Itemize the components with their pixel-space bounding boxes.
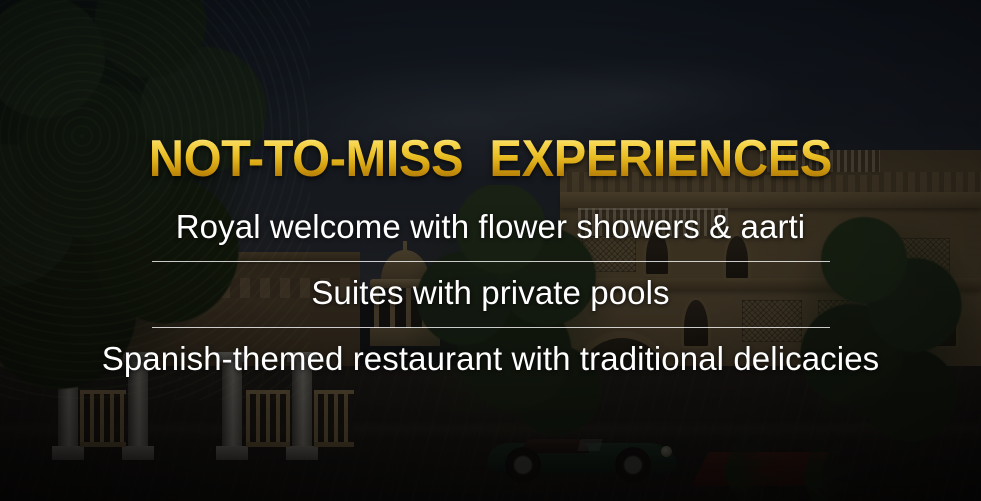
experience-item-1: Royal welcome with flower showers & aart… xyxy=(176,209,806,246)
hero-content: NOT-TO-MISS EXPERIENCES Royal welcome wi… xyxy=(0,0,981,501)
experience-item-3: Spanish-themed restaurant with tradition… xyxy=(102,341,880,378)
page-title: NOT-TO-MISS EXPERIENCES xyxy=(149,133,832,185)
experience-item-2: Suites with private pools xyxy=(311,275,669,312)
divider-2 xyxy=(152,327,830,328)
hero-banner: NOT-TO-MISS EXPERIENCES Royal welcome wi… xyxy=(0,0,981,501)
experience-list: Royal welcome with flower showers & aart… xyxy=(0,209,981,378)
divider-1 xyxy=(152,261,830,262)
